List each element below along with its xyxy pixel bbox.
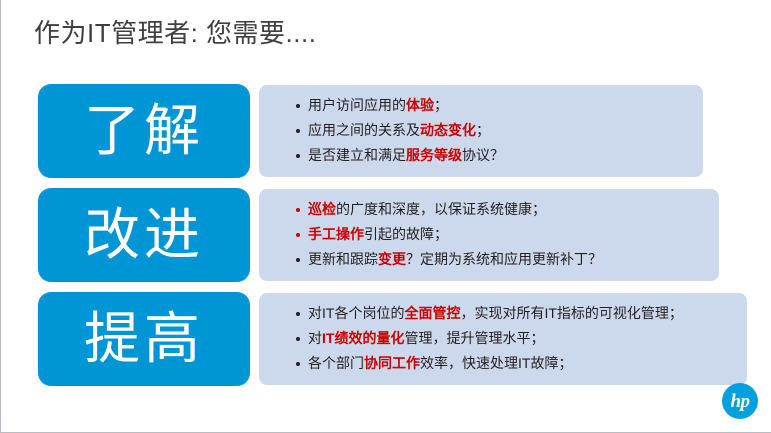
content-row: 巡检的广度和深度，以保证系统健康；手工操作引起的故障；更新和跟踪变更？定期为系统… — [1, 188, 771, 288]
content-row: 用户访问应用的体验；应用之间的关系及动态变化；是否建立和满足服务等级协议？ 了解 — [1, 84, 771, 184]
bullet-text: 协议？ — [462, 147, 504, 163]
slide-canvas: 作为IT管理者: 您需要.... 用户访问应用的体验；应用之间的关系及动态变化；… — [0, 0, 771, 433]
bullet-list: 对IT各个岗位的全面管控，实现对所有IT指标的可视化管理；对IT绩效的量化管理，… — [295, 301, 733, 376]
bullet-emphasis: 手工操作 — [308, 226, 364, 242]
bullet-item: 各个部门协同工作效率，快速处理IT故障； — [295, 351, 733, 376]
bullet-text: 的广度和深度，以保证系统健康； — [336, 201, 546, 217]
hp-logo-icon: hp — [722, 383, 758, 419]
bullet-emphasis: 服务等级 — [406, 147, 462, 163]
stage-label-box: 改进 — [38, 188, 250, 282]
bullet-text: 各个部门 — [308, 355, 364, 371]
content-row: 对IT各个岗位的全面管控，实现对所有IT指标的可视化管理；对IT绩效的量化管理，… — [1, 292, 771, 392]
bullet-emphasis: 全面管控 — [404, 305, 460, 321]
bullet-item: 对IT各个岗位的全面管控，实现对所有IT指标的可视化管理； — [295, 301, 733, 326]
bullet-panel: 巡检的广度和深度，以保证系统健康；手工操作引起的故障；更新和跟踪变更？定期为系统… — [259, 189, 719, 281]
bullet-text: 管理，提升管理水平； — [404, 330, 544, 346]
bullet-text: ？定期为系统和应用更新补丁？ — [406, 251, 602, 267]
bullet-text: 用户访问应用的 — [308, 97, 406, 113]
bullet-item: 更新和跟踪变更？定期为系统和应用更新补丁？ — [295, 247, 705, 272]
bullet-text: 是否建立和满足 — [308, 147, 406, 163]
logo-wordmark: hp — [722, 383, 758, 419]
bullet-text: 对IT各个岗位的 — [308, 305, 404, 321]
bullet-item: 是否建立和满足服务等级协议？ — [295, 143, 689, 168]
bullet-item: 用户访问应用的体验； — [295, 93, 689, 118]
page-title: 作为IT管理者: 您需要.... — [34, 16, 316, 50]
bullet-emphasis: 协同工作 — [364, 355, 420, 371]
bullet-panel: 对IT各个岗位的全面管控，实现对所有IT指标的可视化管理；对IT绩效的量化管理，… — [259, 293, 747, 385]
bullet-emphasis: 动态变化 — [420, 122, 476, 138]
stage-label-text: 改进 — [84, 206, 204, 264]
bullet-list: 巡检的广度和深度，以保证系统健康；手工操作引起的故障；更新和跟踪变更？定期为系统… — [295, 197, 705, 272]
bullet-list: 用户访问应用的体验；应用之间的关系及动态变化；是否建立和满足服务等级协议？ — [295, 93, 689, 168]
stage-label-text: 提高 — [84, 310, 204, 368]
bullet-text: 效率，快速处理IT故障； — [420, 355, 572, 371]
bullet-text: ； — [476, 122, 490, 138]
bullet-emphasis: 巡检 — [308, 201, 336, 217]
bullet-item: 对IT绩效的量化管理，提升管理水平； — [295, 326, 733, 351]
bullet-text: 对 — [308, 330, 322, 346]
bullet-item: 应用之间的关系及动态变化； — [295, 118, 689, 143]
bullet-emphasis: IT绩效的量化 — [322, 330, 404, 346]
bullet-text: 引起的故障； — [364, 226, 448, 242]
bullet-item: 巡检的广度和深度，以保证系统健康； — [295, 197, 705, 222]
stage-label-box: 提高 — [38, 292, 250, 386]
bullet-emphasis: 体验 — [406, 97, 434, 113]
bullet-text: 更新和跟踪 — [308, 251, 378, 267]
bullet-text: 应用之间的关系及 — [308, 122, 420, 138]
bullet-emphasis: 变更 — [378, 251, 406, 267]
bullet-item: 手工操作引起的故障； — [295, 222, 705, 247]
stage-label-text: 了解 — [84, 102, 204, 160]
bullet-text: ，实现对所有IT指标的可视化管理； — [460, 305, 682, 321]
bullet-panel: 用户访问应用的体验；应用之间的关系及动态变化；是否建立和满足服务等级协议？ — [259, 85, 703, 177]
bullet-text: ； — [434, 97, 448, 113]
stage-label-box: 了解 — [38, 84, 250, 178]
